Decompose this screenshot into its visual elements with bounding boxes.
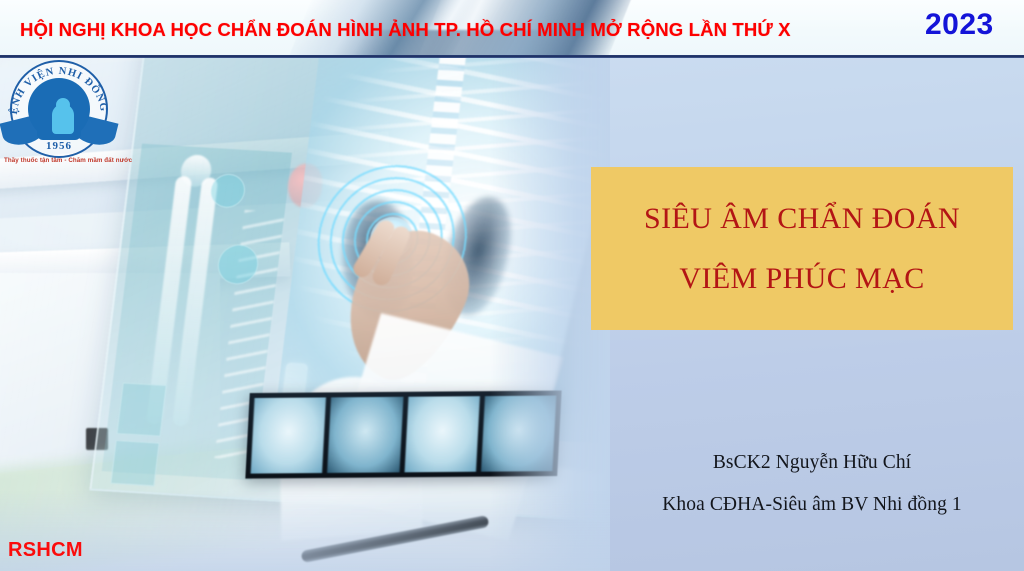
author-name: BsCK2 Nguyễn Hữu Chí: [600, 452, 1024, 474]
conference-year: 2023: [925, 8, 994, 42]
logo-child-body: [52, 104, 74, 134]
footer-organization-tag: RSHCM: [8, 539, 83, 562]
presentation-slide: HỘI NGHỊ KHOA HỌC CHẨN ĐOÁN HÌNH ẢNH TP.…: [0, 0, 1024, 571]
photo-bottom-fade: [0, 491, 610, 571]
logo-established-year: 1956: [4, 140, 114, 152]
presentation-title-line-1: SIÊU ÂM CHẨN ĐOÁN: [644, 202, 960, 236]
author-block: BsCK2 Nguyễn Hữu Chí Khoa CĐHA-Siêu âm B…: [600, 452, 1024, 516]
conference-title: HỘI NGHỊ KHOA HỌC CHẨN ĐOÁN HÌNH ẢNH TP.…: [20, 19, 791, 41]
author-department: Khoa CĐHA-Siêu âm BV Nhi đồng 1: [600, 494, 1024, 516]
hospital-logo: BỆNH VIỆN NHI ĐỒNG 1 1956 Thầy thuốc tận…: [4, 58, 114, 176]
logo-tagline: Thầy thuốc tận tâm - Chăm mầm đất nước: [4, 157, 116, 164]
presentation-title-line-2: VIÊM PHÚC MẠC: [679, 262, 924, 296]
presentation-title-box: SIÊU ÂM CHẨN ĐOÁN VIÊM PHÚC MẠC: [591, 167, 1013, 330]
